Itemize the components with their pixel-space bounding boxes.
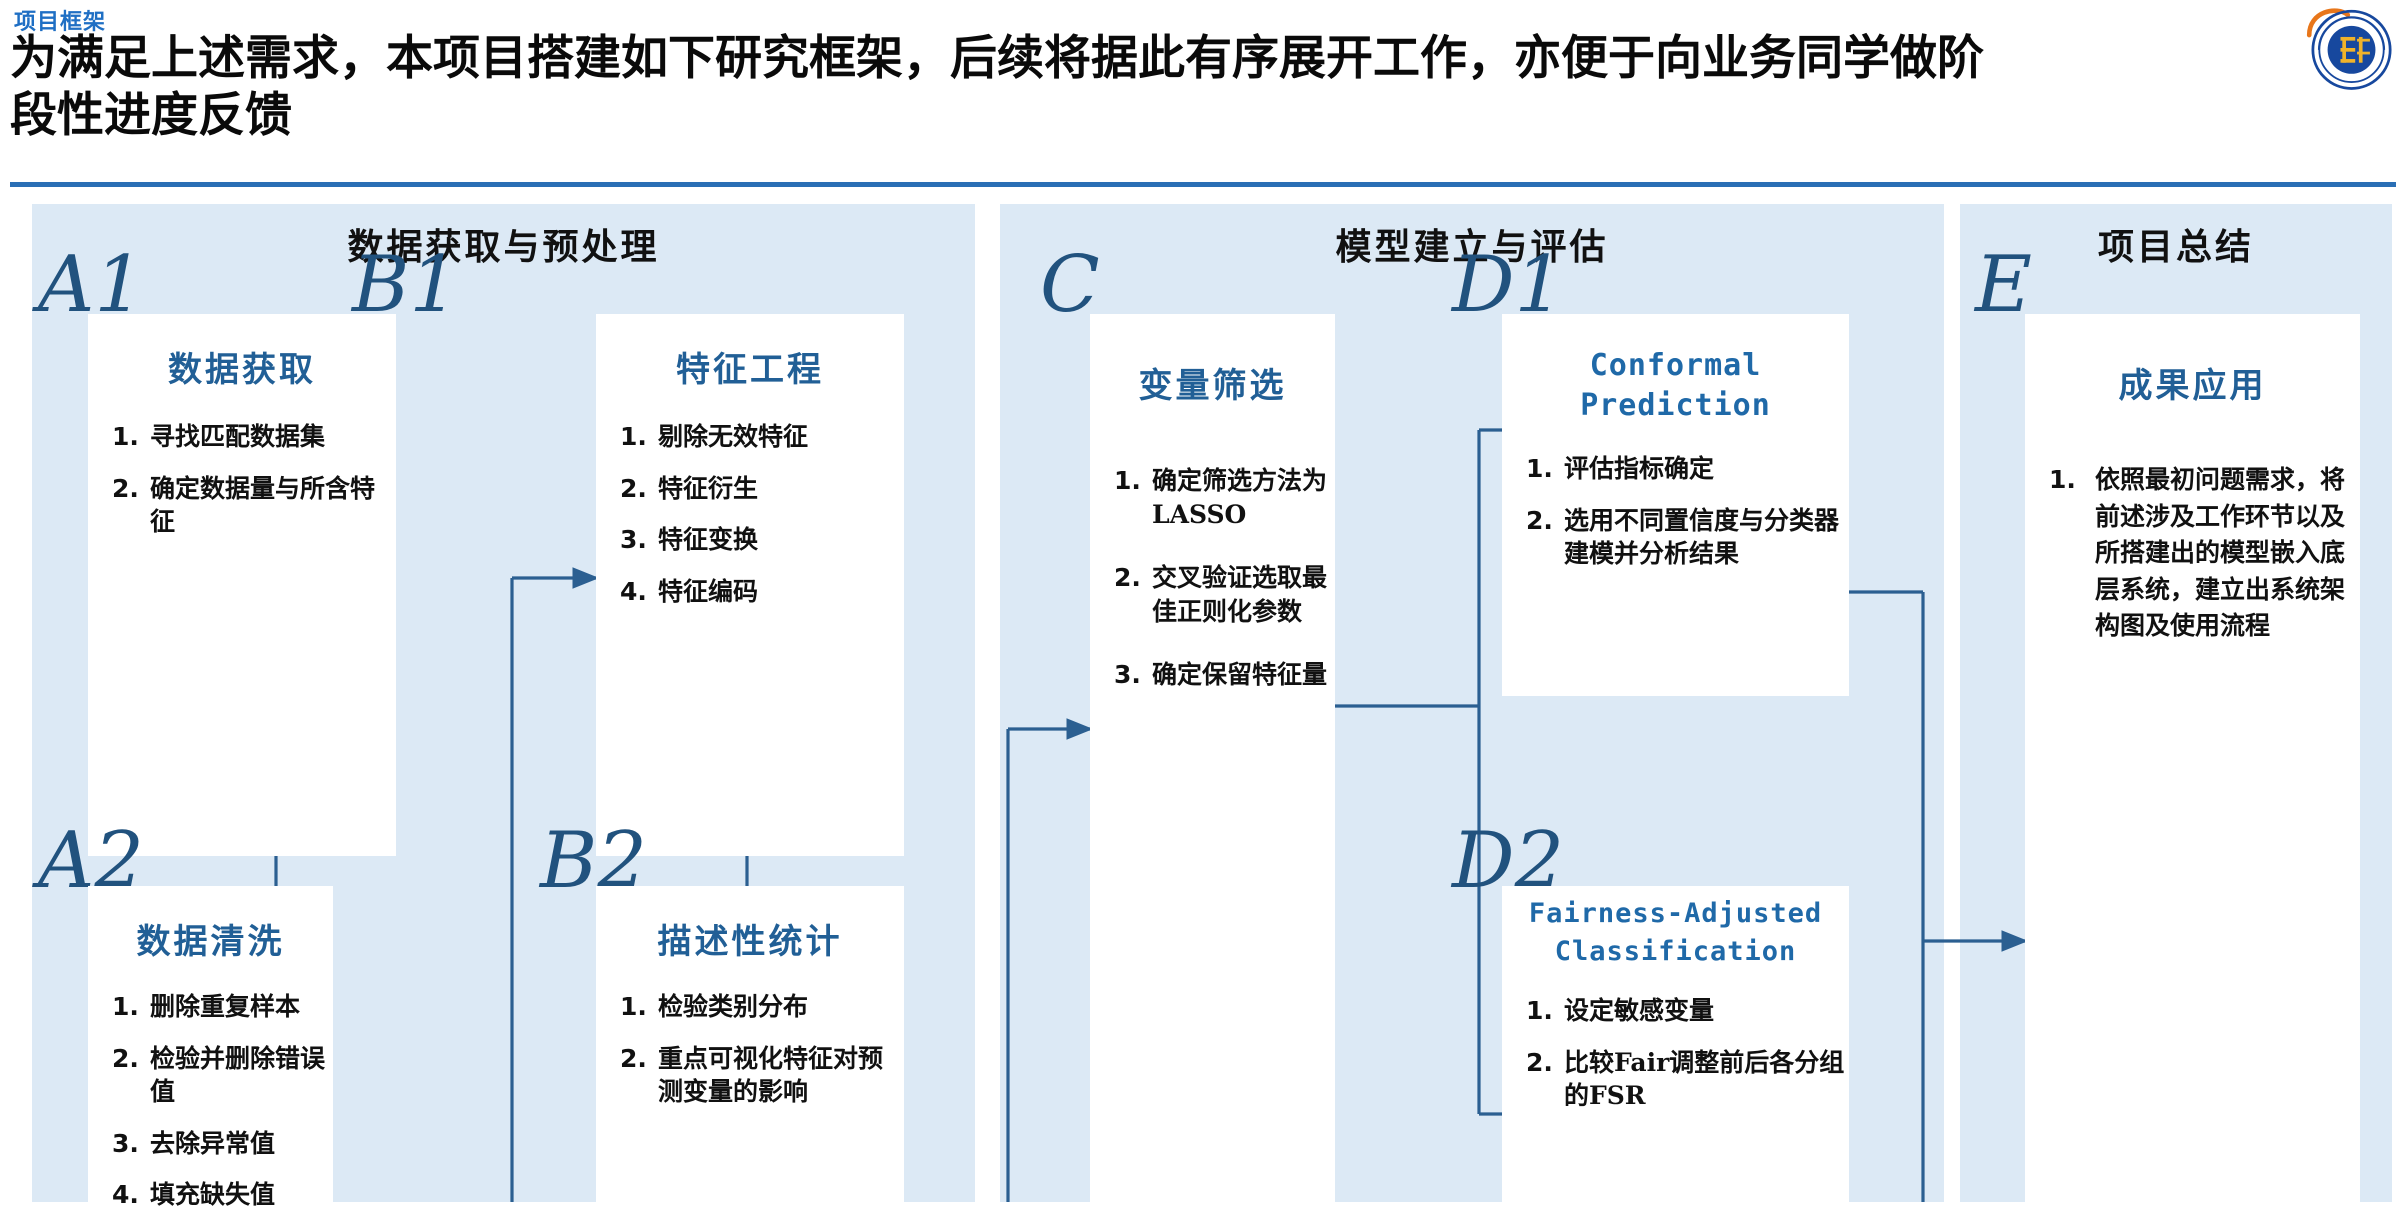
card-e[interactable]: 成果应用 1. 依照最初问题需求，将前述涉及工作环节以及所搭建出的模型嵌入底层系…: [2025, 314, 2360, 1202]
panel-preprocessing-title: 数据获取与预处理: [32, 218, 975, 270]
list-item-number: 3.: [620, 523, 647, 557]
list-item-number: 2.: [112, 1042, 139, 1076]
list-item-text: 确定保留特征量: [1152, 658, 1335, 692]
card-d2-list: 1. 设定敏感变量 2. 比较Fair调整前后各分组的FSR: [1502, 994, 1849, 1131]
list-item-text: 评估指标确定: [1564, 452, 1849, 486]
list-item-number: 1.: [1114, 464, 1141, 498]
list-item: 4. 特征编码: [596, 575, 904, 609]
list-item-number: 1.: [1526, 452, 1553, 486]
list-item: 2. 比较Fair调整前后各分组的FSR: [1502, 1046, 1849, 1113]
list-item-number: 1.: [620, 990, 647, 1024]
list-item-number: 2.: [1526, 504, 1553, 538]
card-d2-title-line-1: Fairness-Adjusted: [1502, 896, 1849, 932]
list-item-text: 去除异常值: [150, 1127, 333, 1161]
list-item-number: 1.: [112, 990, 139, 1024]
list-item-number: 1.: [1526, 994, 1553, 1028]
card-a2-list: 1. 删除重复样本 2. 检验并删除错误值 3. 去除异常值 4. 填充缺失值: [88, 990, 333, 1230]
list-item-text: 填充缺失值: [150, 1178, 333, 1212]
card-a1-title: 数据获取: [88, 342, 396, 391]
list-item-number: 3.: [112, 1127, 139, 1161]
list-item-text: 交叉验证选取最佳正则化参数: [1152, 561, 1335, 628]
card-a1[interactable]: 数据获取 1. 寻找匹配数据集 2. 确定数据量与所含特征: [88, 314, 396, 856]
list-item: 1. 剔除无效特征: [596, 420, 904, 454]
list-item-number: 3.: [1114, 658, 1141, 692]
card-d1[interactable]: Conformal Prediction 1. 评估指标确定 2. 选用不同置信…: [1502, 314, 1849, 696]
list-item: 1. 确定筛选方法为LASSO: [1090, 464, 1335, 531]
list-item: 2. 交叉验证选取最佳正则化参数: [1090, 561, 1335, 628]
list-item-text: 特征衍生: [658, 472, 904, 506]
list-item-text: 比较Fair调整前后各分组的FSR: [1564, 1046, 1849, 1113]
university-seal-logo: [2300, 2, 2392, 94]
list-item: 1. 依照最初问题需求，将前述涉及工作环节以及所搭建出的模型嵌入底层系统，建立出…: [2025, 462, 2360, 645]
header-divider-rule: [10, 182, 2396, 187]
list-item-number: 2.: [620, 1042, 647, 1076]
card-a1-list: 1. 寻找匹配数据集 2. 确定数据量与所含特征: [88, 420, 396, 557]
card-b1[interactable]: 特征工程 1. 剔除无效特征 2. 特征衍生 3. 特征变换 4. 特征编码: [596, 314, 904, 856]
list-item: 1. 寻找匹配数据集: [88, 420, 396, 454]
card-b1-title: 特征工程: [596, 342, 904, 391]
card-e-list: 1. 依照最初问题需求，将前述涉及工作环节以及所搭建出的模型嵌入底层系统，建立出…: [2025, 462, 2360, 663]
list-item: 1. 删除重复样本: [88, 990, 333, 1024]
list-item-text: 依照最初问题需求，将前述涉及工作环节以及所搭建出的模型嵌入底层系统，建立出系统架…: [2095, 462, 2346, 645]
card-a2[interactable]: 数据清洗 1. 删除重复样本 2. 检验并删除错误值 3. 去除异常值 4. 填…: [88, 886, 333, 1202]
list-item: 3. 确定保留特征量: [1090, 658, 1335, 692]
card-d2[interactable]: Fairness-Adjusted Classification 1. 设定敏感…: [1502, 886, 1849, 1202]
list-item: 2. 确定数据量与所含特征: [88, 472, 396, 539]
list-item-text: 选用不同置信度与分类器建模并分析结果: [1564, 504, 1849, 571]
stage-label-e: E: [1975, 246, 2032, 324]
card-e-title: 成果应用: [2025, 358, 2360, 407]
list-item-text: 设定敏感变量: [1564, 994, 1849, 1028]
list-item-number: 4.: [620, 575, 647, 609]
list-item: 3. 特征变换: [596, 523, 904, 557]
card-d1-title-line-1: Conformal: [1502, 346, 1849, 386]
list-item: 2. 选用不同置信度与分类器建模并分析结果: [1502, 504, 1849, 571]
card-c[interactable]: 变量筛选 1. 确定筛选方法为LASSO 2. 交叉验证选取最佳正则化参数 3.…: [1090, 314, 1335, 1202]
framework-diagram: 数据获取与预处理 模型建立与评估 项目总结 A1: [0, 196, 2408, 1202]
list-item-text: 确定筛选方法为LASSO: [1152, 464, 1335, 531]
card-b2-list: 1. 检验类别分布 2. 重点可视化特征对预测变量的影响: [596, 990, 904, 1127]
list-item-text: 重点可视化特征对预测变量的影响: [658, 1042, 904, 1109]
card-d1-list: 1. 评估指标确定 2. 选用不同置信度与分类器建模并分析结果: [1502, 452, 1849, 589]
card-b2[interactable]: 描述性统计 1. 检验类别分布 2. 重点可视化特征对预测变量的影响: [596, 886, 904, 1202]
list-item: 2. 特征衍生: [596, 472, 904, 506]
list-item-number: 4.: [112, 1178, 139, 1212]
list-item-number: 2.: [620, 472, 647, 506]
list-item-text: 确定数据量与所含特征: [150, 472, 396, 539]
list-item-text: 剔除无效特征: [658, 420, 904, 454]
stage-label-c: C: [1040, 246, 1100, 324]
stage-label-b1: B1: [352, 246, 459, 324]
page-title: 为满足上述需求，本项目搭建如下研究框架，后续将据此有序展开工作，亦便于向业务同学…: [10, 30, 2190, 145]
list-item-text: 特征编码: [658, 575, 904, 609]
list-item-text: 删除重复样本: [150, 990, 333, 1024]
list-item-number: 1.: [112, 420, 139, 454]
page-title-line-2: 段性进度反馈: [10, 87, 2190, 144]
slide-header: 项目框架 为满足上述需求，本项目搭建如下研究框架，后续将据此有序展开工作，亦便于…: [0, 0, 2408, 200]
list-item-number: 1.: [620, 420, 647, 454]
list-item-number: 2.: [1114, 561, 1141, 595]
card-b1-list: 1. 剔除无效特征 2. 特征衍生 3. 特征变换 4. 特征编码: [596, 420, 904, 626]
list-item-text: 检验类别分布: [658, 990, 904, 1024]
list-item-text: 检验并删除错误值: [150, 1042, 333, 1109]
card-d2-title-line-2: Classification: [1502, 934, 1849, 970]
page-title-line-1: 为满足上述需求，本项目搭建如下研究框架，后续将据此有序展开工作，亦便于向业务同学…: [10, 30, 2190, 87]
list-item-number: 2.: [112, 472, 139, 506]
list-item: 4. 填充缺失值: [88, 1178, 333, 1212]
card-d1-title-line-2: Prediction: [1502, 386, 1849, 426]
card-a2-title: 数据清洗: [88, 914, 333, 963]
stage-label-d1: D1: [1452, 246, 1564, 324]
list-item-text: 特征变换: [658, 523, 904, 557]
card-c-title: 变量筛选: [1090, 358, 1335, 407]
list-item: 2. 重点可视化特征对预测变量的影响: [596, 1042, 904, 1109]
list-item: 3. 去除异常值: [88, 1127, 333, 1161]
list-item-number: 2.: [1526, 1046, 1553, 1080]
list-item: 1. 设定敏感变量: [1502, 994, 1849, 1028]
list-item-number: 1.: [2049, 462, 2076, 499]
list-item: 1. 评估指标确定: [1502, 452, 1849, 486]
card-b2-title: 描述性统计: [596, 914, 904, 963]
list-item: 1. 检验类别分布: [596, 990, 904, 1024]
card-c-list: 1. 确定筛选方法为LASSO 2. 交叉验证选取最佳正则化参数 3. 确定保留…: [1090, 464, 1335, 710]
list-item-text: 寻找匹配数据集: [150, 420, 396, 454]
stage-label-a1: A1: [38, 246, 144, 324]
list-item: 2. 检验并删除错误值: [88, 1042, 333, 1109]
